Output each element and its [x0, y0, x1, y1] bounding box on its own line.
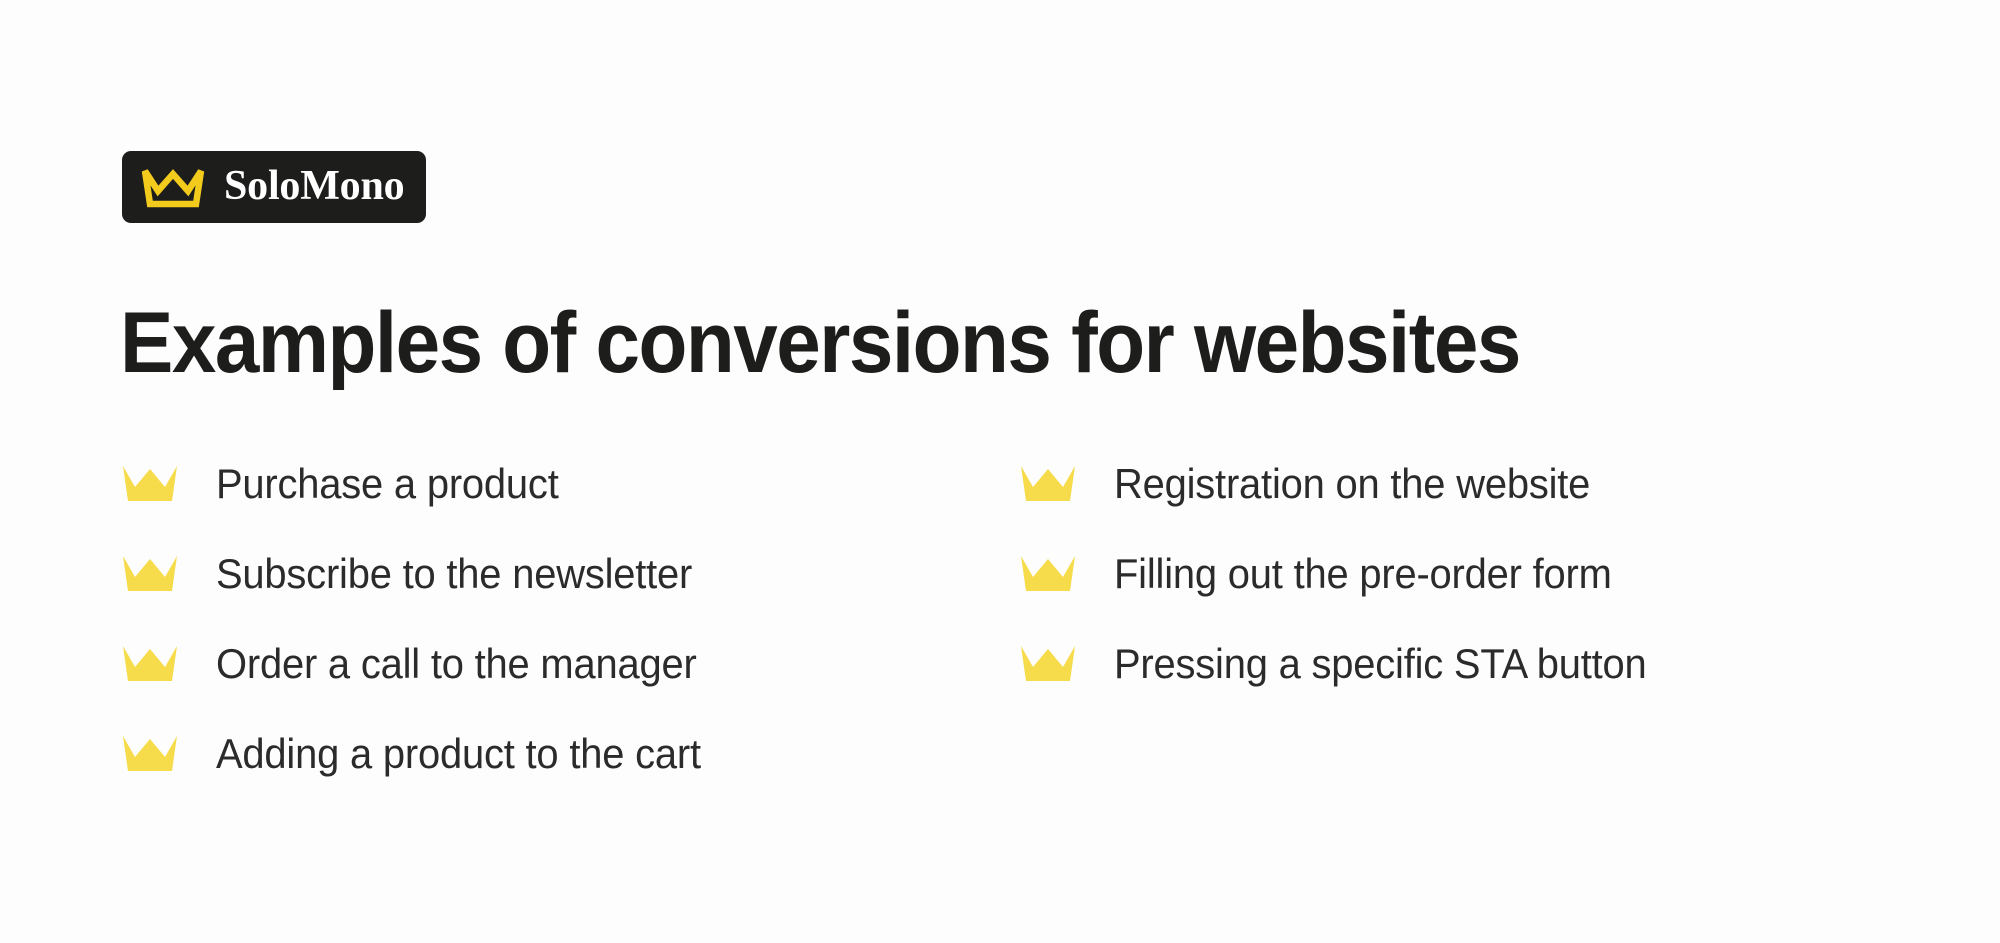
list-item-label: Filling out the pre-order form — [1114, 551, 1612, 596]
list-item: Adding a product to the cart — [120, 722, 1000, 786]
crown-bullet-icon — [1018, 553, 1078, 595]
slide-canvas: SoloMono Examples of conversions for web… — [0, 0, 2000, 943]
list-item-label: Subscribe to the newsletter — [216, 551, 692, 596]
list-item-label: Order a call to the manager — [216, 641, 697, 686]
list-item: Purchase a product — [120, 452, 1000, 516]
list-item: Order a call to the manager — [120, 632, 1000, 696]
list-item: Subscribe to the newsletter — [120, 542, 1000, 606]
brand-logo-badge[interactable]: SoloMono — [122, 151, 426, 223]
list-item-label: Adding a product to the cart — [216, 731, 701, 776]
page-title: Examples of conversions for websites — [120, 300, 1520, 386]
crown-bullet-icon — [120, 463, 180, 505]
conversion-examples-lists: Purchase a product Subscribe to the news… — [120, 452, 1880, 786]
crown-bullet-icon — [120, 733, 180, 775]
crown-bullet-icon — [1018, 643, 1078, 685]
list-item: Registration on the website — [1018, 452, 1880, 516]
list-item: Filling out the pre-order form — [1018, 542, 1880, 606]
crown-bullet-icon — [1018, 463, 1078, 505]
list-item-label: Pressing a specific STA button — [1114, 641, 1646, 686]
list-item-label: Purchase a product — [216, 461, 559, 506]
list-item: Pressing a specific STA button — [1018, 632, 1880, 696]
crown-bullet-icon — [120, 643, 180, 685]
list-column-left: Purchase a product Subscribe to the news… — [120, 452, 1000, 786]
brand-wordmark: SoloMono — [224, 165, 404, 210]
list-column-right: Registration on the website Filling out … — [1000, 452, 1880, 696]
list-item-label: Registration on the website — [1114, 461, 1590, 506]
crown-icon — [140, 165, 206, 209]
crown-bullet-icon — [120, 553, 180, 595]
